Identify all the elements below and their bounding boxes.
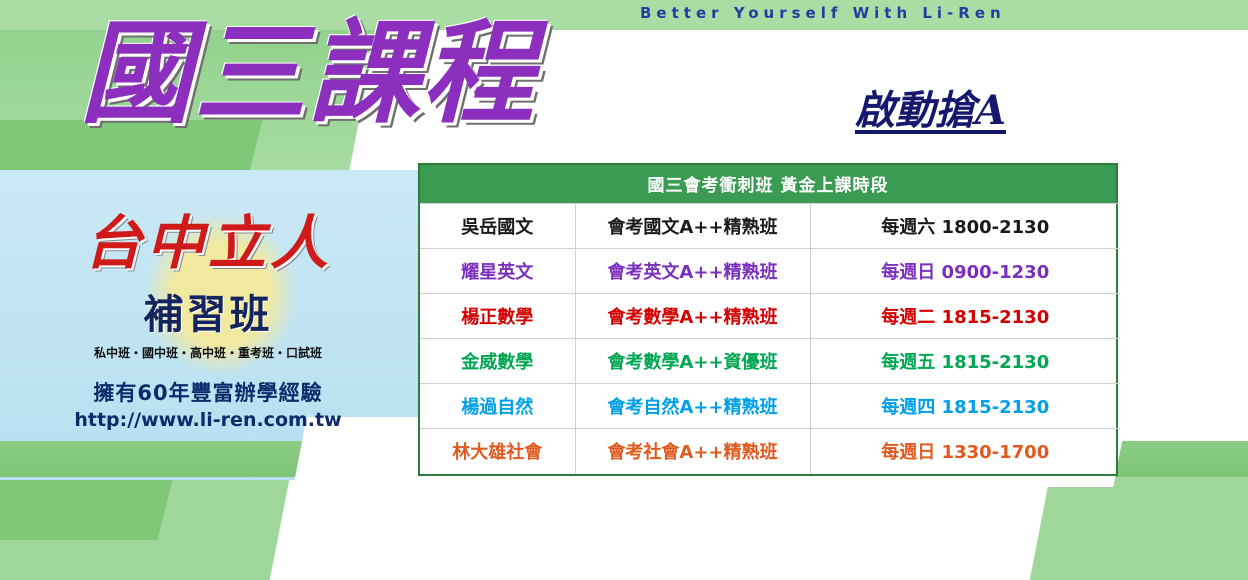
cell-course: 會考數學A++資優班 bbox=[575, 339, 810, 384]
table-row: 楊正數學會考數學A++精熟班每週二 1815-2130 bbox=[420, 294, 1120, 339]
logo-name-primary: 台中立人 bbox=[28, 196, 388, 280]
cell-teacher: 金威數學 bbox=[420, 339, 575, 384]
cell-teacher: 林大雄社會 bbox=[420, 429, 575, 474]
logo-name-secondary: 補習班 bbox=[28, 282, 388, 340]
table-row: 吳岳國文會考國文A++精熟班每週六 1800-2130 bbox=[420, 204, 1120, 249]
cell-time: 每週五 1815-2130 bbox=[810, 339, 1120, 384]
cell-course: 會考英文A++精熟班 bbox=[575, 249, 810, 294]
cell-time: 每週二 1815-2130 bbox=[810, 294, 1120, 339]
cell-teacher: 耀星英文 bbox=[420, 249, 575, 294]
cell-course: 會考數學A++精熟班 bbox=[575, 294, 810, 339]
cell-teacher: 吳岳國文 bbox=[420, 204, 575, 249]
logo-website-url[interactable]: http://www.li-ren.com.tw bbox=[28, 409, 388, 431]
cell-course: 會考自然A++精熟班 bbox=[575, 384, 810, 429]
table-row: 金威數學會考數學A++資優班每週五 1815-2130 bbox=[420, 339, 1120, 384]
cell-time: 每週日 1330-1700 bbox=[810, 429, 1120, 474]
logo: 台中立人 補習班 私中班・國中班・高中班・重考班・口試班 擁有60年豐富辦學經驗… bbox=[28, 196, 388, 431]
tagline: Better Yourself With Li-Ren bbox=[640, 4, 1006, 22]
table-row: 林大雄社會會考社會A++精熟班每週日 1330-1700 bbox=[420, 429, 1120, 474]
cell-teacher: 楊正數學 bbox=[420, 294, 575, 339]
schedule-table-header: 國三會考衝刺班 黃金上課時段 bbox=[420, 165, 1116, 203]
schedule-table: 國三會考衝刺班 黃金上課時段 吳岳國文會考國文A++精熟班每週六 1800-21… bbox=[418, 163, 1118, 476]
cell-time: 每週六 1800-2130 bbox=[810, 204, 1120, 249]
table-row: 耀星英文會考英文A++精熟班每週日 0900-1230 bbox=[420, 249, 1120, 294]
cell-teacher: 楊過自然 bbox=[420, 384, 575, 429]
cell-time: 每週四 1815-2130 bbox=[810, 384, 1120, 429]
table-row: 楊過自然會考自然A++精熟班每週四 1815-2130 bbox=[420, 384, 1120, 429]
cell-course: 會考社會A++精熟班 bbox=[575, 429, 810, 474]
page-subtitle: 啟動搶A bbox=[855, 78, 1006, 136]
page-title: 國三課程 bbox=[80, 18, 536, 130]
logo-class-list: 私中班・國中班・高中班・重考班・口試班 bbox=[28, 344, 388, 361]
cell-course: 會考國文A++精熟班 bbox=[575, 204, 810, 249]
logo-experience-text: 擁有60年豐富辦學經驗 bbox=[28, 377, 388, 407]
cell-time: 每週日 0900-1230 bbox=[810, 249, 1120, 294]
